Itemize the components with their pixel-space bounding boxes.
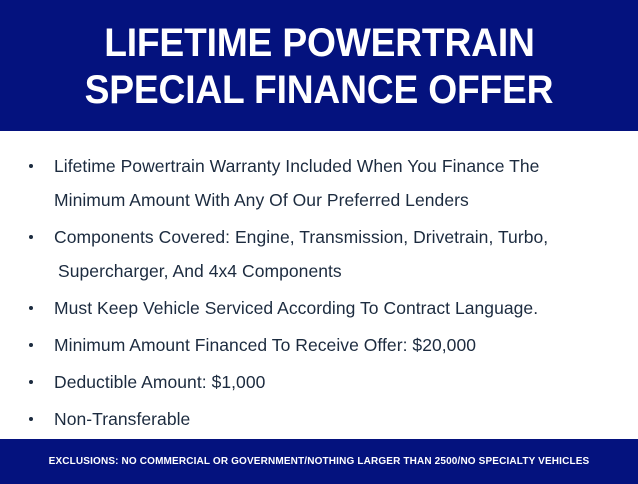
list-item: Deductible Amount: $1,000 — [22, 365, 616, 399]
bullet-text-line-2: Minimum Amount With Any Of Our Preferred… — [54, 183, 616, 217]
exclusions-disclaimer: EXCLUSIONS: NO COMMERCIAL OR GOVERNMENT/… — [49, 456, 590, 467]
list-item: Must Keep Vehicle Serviced According To … — [22, 291, 616, 325]
bullet-text-line-1: Lifetime Powertrain Warranty Included Wh… — [54, 156, 539, 176]
list-item: Non-Transferable — [22, 402, 616, 436]
bullet-text-line-2: Supercharger, And 4x4 Components — [54, 254, 616, 288]
slide: LIFETIME POWERTRAIN SPECIAL FINANCE OFFE… — [0, 0, 638, 479]
header-band: LIFETIME POWERTRAIN SPECIAL FINANCE OFFE… — [0, 0, 638, 131]
list-item: Minimum Amount Financed To Receive Offer… — [22, 328, 616, 362]
bullet-text-line-1: Non-Transferable — [54, 409, 190, 429]
list-item: Lifetime Powertrain Warranty Included Wh… — [22, 149, 616, 217]
slide-title-line-1: LIFETIME POWERTRAIN — [104, 20, 534, 67]
footer-band: EXCLUSIONS: NO COMMERCIAL OR GOVERNMENT/… — [0, 439, 638, 484]
list-item: Components Covered: Engine, Transmission… — [22, 220, 616, 288]
bullet-text-line-1: Must Keep Vehicle Serviced According To … — [54, 298, 538, 318]
bullet-text-line-1: Deductible Amount: $1,000 — [54, 372, 265, 392]
slide-title-line-2: SPECIAL FINANCE OFFER — [85, 67, 554, 114]
bullet-text-line-1: Components Covered: Engine, Transmission… — [54, 227, 548, 247]
body-area: Lifetime Powertrain Warranty Included Wh… — [0, 131, 638, 439]
bullet-text-line-1: Minimum Amount Financed To Receive Offer… — [54, 335, 476, 355]
offer-bullet-list: Lifetime Powertrain Warranty Included Wh… — [22, 149, 616, 436]
